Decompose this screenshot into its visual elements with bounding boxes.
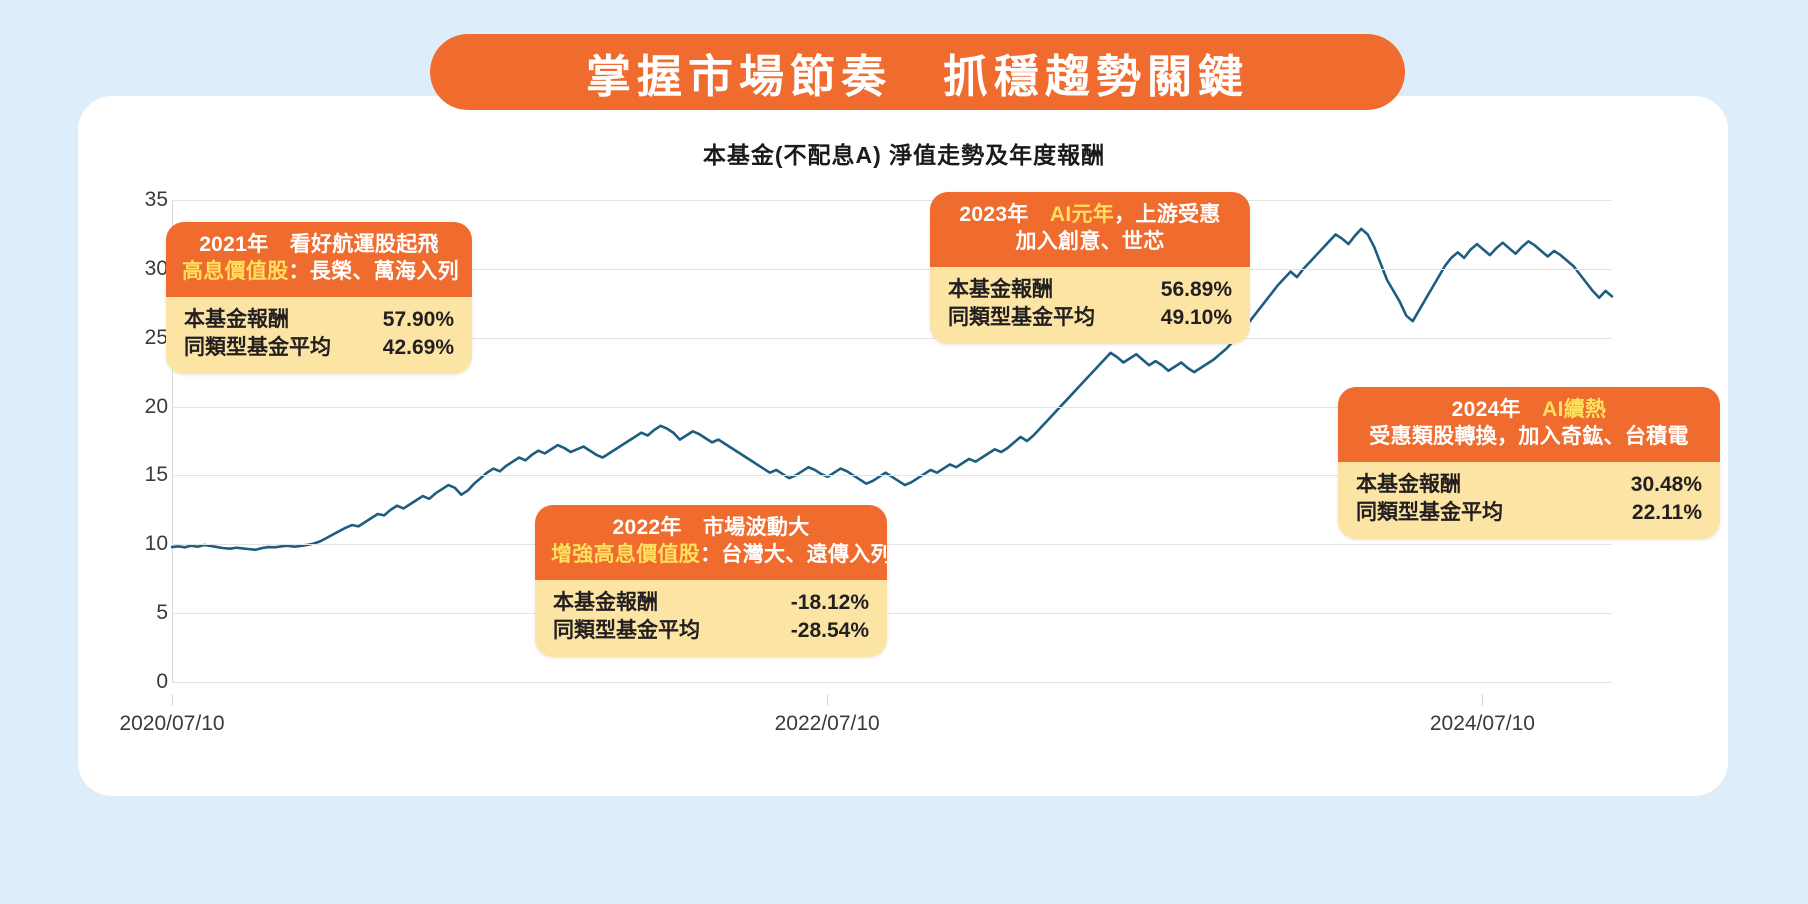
callout-2023-row-fund-label: 本基金報酬	[948, 276, 1075, 305]
y-tick-label: 0	[108, 670, 168, 694]
callout-2021-highlight: 高息價值股	[182, 260, 289, 283]
y-tick-label: 30	[108, 257, 168, 281]
y-axis-tick-labels: 35302520151050	[108, 200, 168, 682]
callout-2022-head-line1: 2022年 市場波動大	[551, 514, 871, 541]
callout-2023-row-fund-value: 56.89%	[1161, 276, 1232, 305]
banner-title-text: 掌握市場節奏 抓穩趨勢關鍵	[586, 40, 1249, 105]
callout-2022-body: 本基金報酬 -18.12% 同類型基金平均 -28.54%	[535, 580, 887, 657]
callout-2023-head-suffix: ，上游受惠	[1114, 203, 1221, 226]
callout-2024-row-fund: 本基金報酬 30.48%	[1356, 471, 1702, 500]
callout-2022-row-fund-label: 本基金報酬	[553, 589, 680, 618]
y-tick-label: 25	[108, 326, 168, 350]
y-tick-label: 15	[108, 463, 168, 487]
callout-2022-head-line2-rest: ：台灣大、遠傳入列	[700, 543, 887, 566]
callout-2021-row-fund: 本基金報酬 57.90%	[184, 306, 454, 335]
callout-2021-row-peer-value: 42.69%	[383, 334, 454, 363]
callout-2023-body: 本基金報酬 56.89% 同類型基金平均 49.10%	[930, 267, 1250, 344]
x-axis-tick-labels: 2020/07/102022/07/102024/07/10	[172, 694, 1612, 734]
callout-2021-head-line1: 2021年 看好航運股起飛	[182, 231, 456, 258]
gridline	[172, 682, 1612, 683]
callout-2022-highlight: 增強高息價值股	[551, 543, 700, 566]
callout-2023-head: 2023年 AI元年，上游受惠 加入創意、世芯	[930, 192, 1250, 267]
callout-2024-row-peer-label: 同類型基金平均	[1356, 499, 1525, 528]
callout-2021-head: 2021年 看好航運股起飛 高息價值股：長榮、萬海入列	[166, 222, 472, 297]
callout-2022[interactable]: 2022年 市場波動大 增強高息價值股：台灣大、遠傳入列 本基金報酬 -18.1…	[535, 505, 887, 657]
callout-2024-head-line2: 受惠類股轉換，加入奇鈜、台積電	[1354, 423, 1704, 450]
callout-2023-row-peer-value: 49.10%	[1161, 304, 1232, 333]
callout-2021-body: 本基金報酬 57.90% 同類型基金平均 42.69%	[166, 297, 472, 374]
callout-2024-head-line1: 2024年 AI續熱	[1354, 396, 1704, 423]
callout-2021-row-peer: 同類型基金平均 42.69%	[184, 334, 454, 363]
callout-2022-head-line2: 增強高息價值股：台灣大、遠傳入列	[551, 541, 871, 568]
callout-2021-head-line2-rest: ：長榮、萬海入列	[289, 260, 459, 283]
x-tick-mark	[172, 694, 173, 706]
callout-2022-row-peer-value: -28.54%	[791, 617, 869, 646]
callout-2023-highlight: AI元年	[1050, 203, 1114, 226]
gridline	[172, 544, 1612, 545]
x-tick-mark	[827, 694, 828, 706]
callout-2024-head: 2024年 AI續熱 受惠類股轉換，加入奇鈜、台積電	[1338, 387, 1720, 462]
chart-title: 本基金(不配息A) 淨值走勢及年度報酬	[0, 136, 1808, 170]
gridline	[172, 613, 1612, 614]
callout-2022-row-fund-value: -18.12%	[791, 589, 869, 618]
callout-2022-row-fund: 本基金報酬 -18.12%	[553, 589, 869, 618]
callout-2023[interactable]: 2023年 AI元年，上游受惠 加入創意、世芯 本基金報酬 56.89% 同類型…	[930, 192, 1250, 344]
x-tick-label: 2022/07/10	[775, 712, 880, 736]
callout-2023-row-peer-label: 同類型基金平均	[948, 304, 1117, 333]
callout-2021-row-peer-label: 同類型基金平均	[184, 334, 353, 363]
callout-2022-row-peer-label: 同類型基金平均	[553, 617, 722, 646]
x-tick-mark	[1482, 694, 1483, 706]
callout-2023-row-peer: 同類型基金平均 49.10%	[948, 304, 1232, 333]
callout-2022-row-peer: 同類型基金平均 -28.54%	[553, 617, 869, 646]
callout-2024-body: 本基金報酬 30.48% 同類型基金平均 22.11%	[1338, 462, 1720, 539]
callout-2024-highlight: AI續熱	[1542, 398, 1606, 421]
y-tick-label: 35	[108, 188, 168, 212]
callout-2021-row-fund-value: 57.90%	[383, 306, 454, 335]
callout-2024-row-fund-label: 本基金報酬	[1356, 471, 1483, 500]
callout-2024-head-prefix: 2024年	[1452, 398, 1543, 421]
callout-2022-head: 2022年 市場波動大 增強高息價值股：台灣大、遠傳入列	[535, 505, 887, 580]
callout-2021-head-line2: 高息價值股：長榮、萬海入列	[182, 258, 456, 285]
callout-2023-head-line2: 加入創意、世芯	[946, 228, 1234, 255]
callout-2024-row-peer: 同類型基金平均 22.11%	[1356, 499, 1702, 528]
callout-2024[interactable]: 2024年 AI續熱 受惠類股轉換，加入奇鈜、台積電 本基金報酬 30.48% …	[1338, 387, 1720, 539]
y-tick-label: 20	[108, 395, 168, 419]
y-tick-label: 10	[108, 532, 168, 556]
banner-title-pill: 掌握市場節奏 抓穩趨勢關鍵	[430, 34, 1405, 110]
gridline	[172, 200, 1612, 201]
y-tick-label: 5	[108, 601, 168, 625]
callout-2021[interactable]: 2021年 看好航運股起飛 高息價值股：長榮、萬海入列 本基金報酬 57.90%…	[166, 222, 472, 374]
callout-2021-row-fund-label: 本基金報酬	[184, 306, 311, 335]
callout-2023-head-prefix: 2023年	[959, 203, 1050, 226]
infographic-root: 掌握市場節奏 抓穩趨勢關鍵 本基金(不配息A) 淨值走勢及年度報酬 353025…	[0, 0, 1808, 904]
callout-2023-row-fund: 本基金報酬 56.89%	[948, 276, 1232, 305]
callout-2024-row-peer-value: 22.11%	[1632, 499, 1702, 528]
callout-2023-head-line1: 2023年 AI元年，上游受惠	[946, 201, 1234, 228]
x-tick-label: 2024/07/10	[1430, 712, 1535, 736]
callout-2024-row-fund-value: 30.48%	[1631, 471, 1702, 500]
x-tick-label: 2020/07/10	[119, 712, 224, 736]
